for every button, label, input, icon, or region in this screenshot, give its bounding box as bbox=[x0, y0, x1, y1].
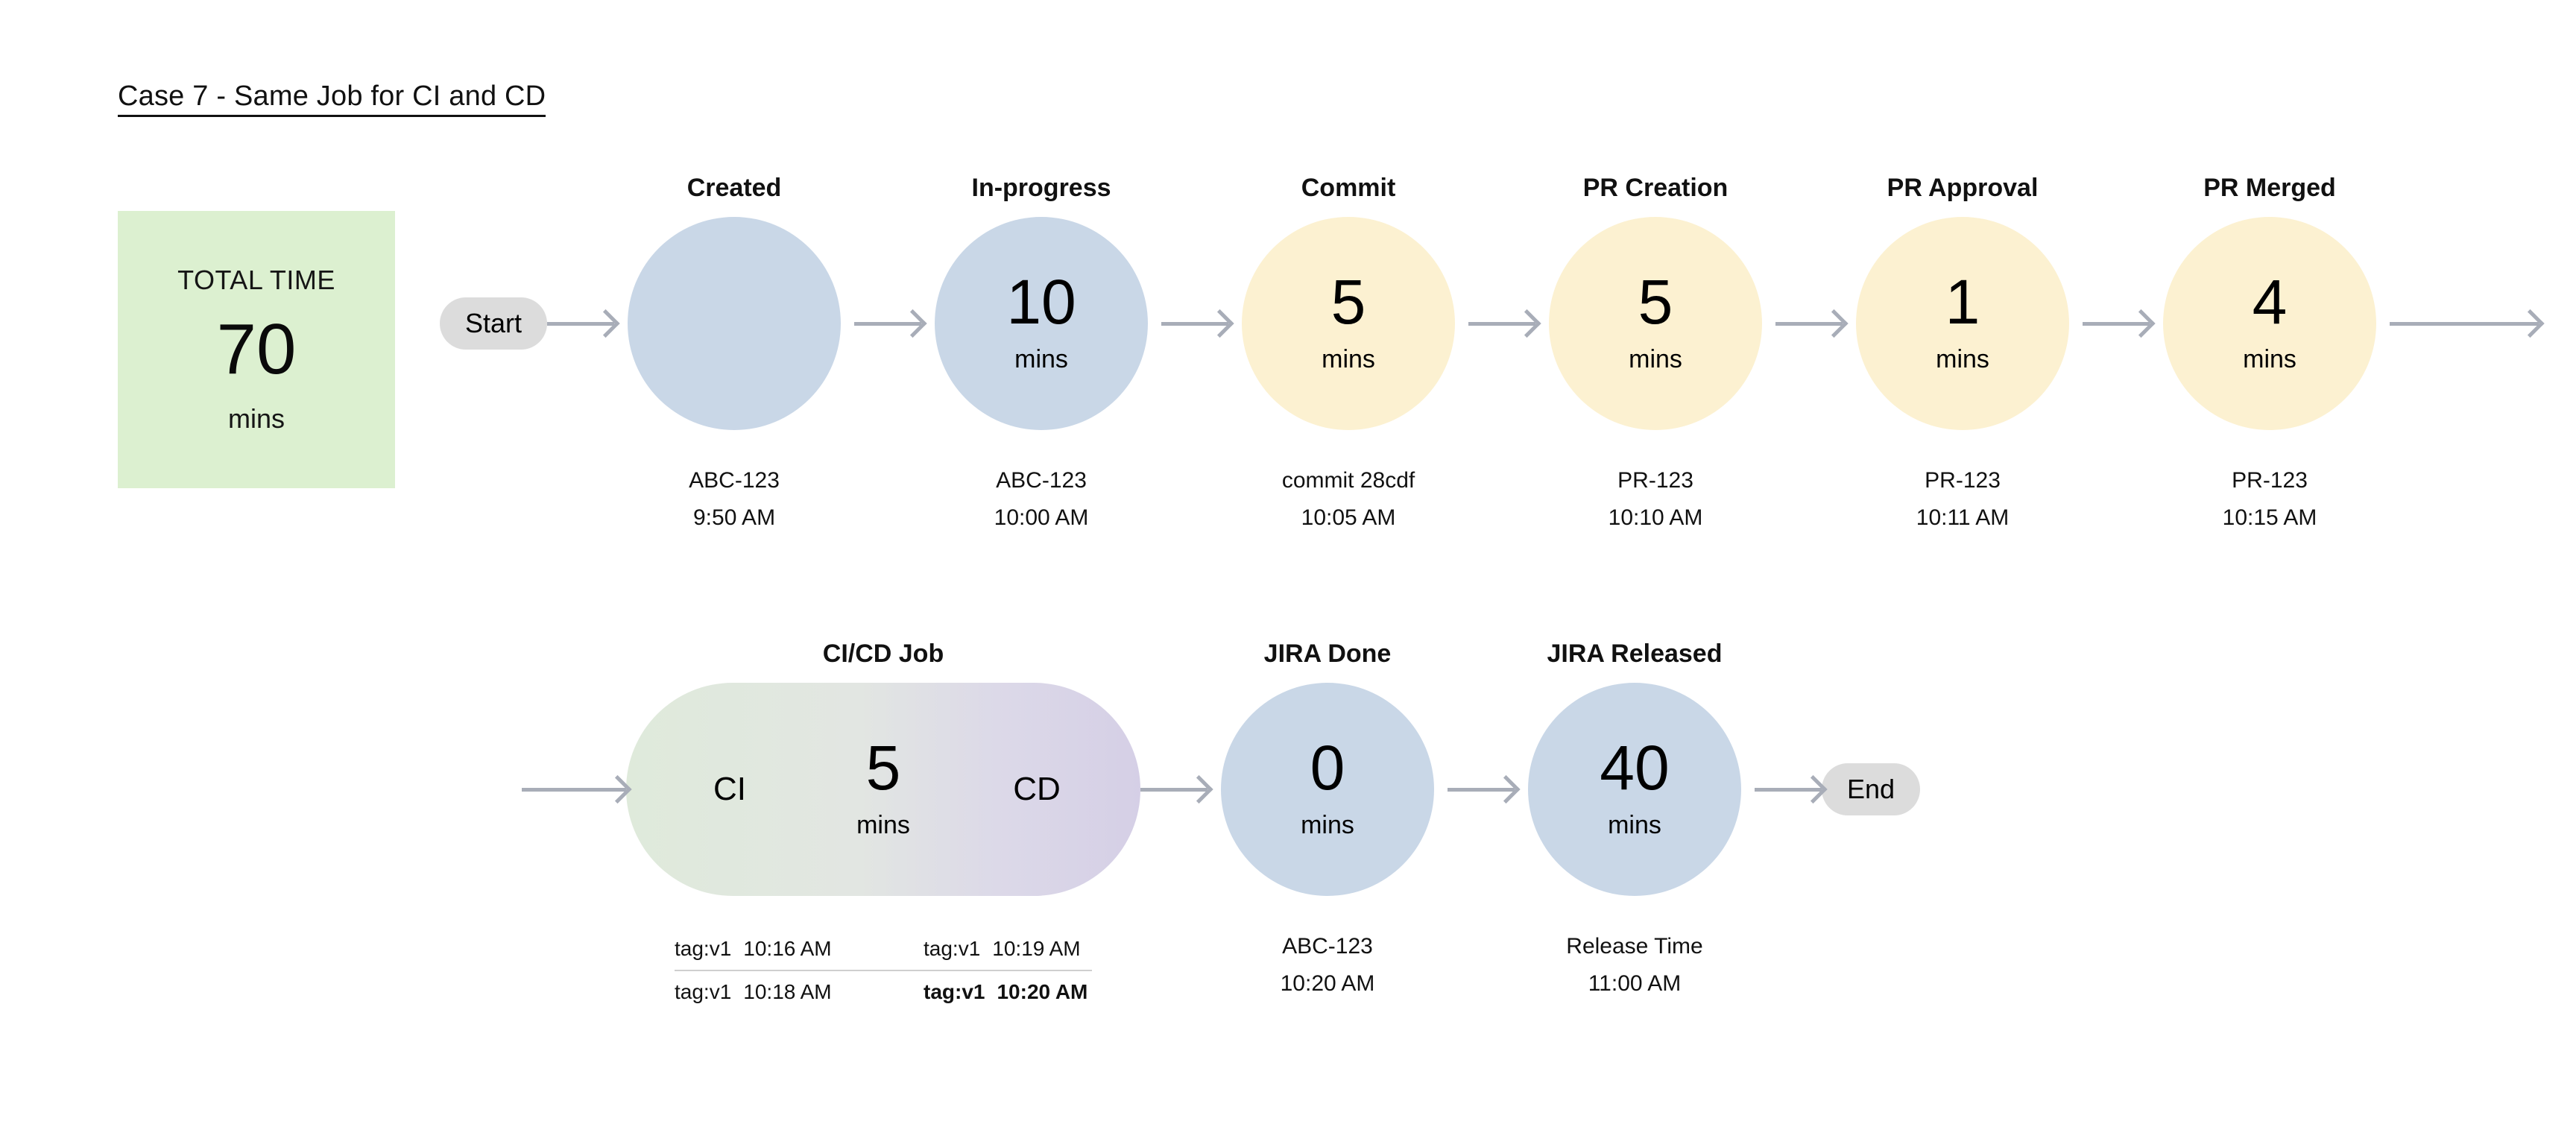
node-caption: PR-123 10:11 AM bbox=[1916, 468, 2010, 531]
flow-row-1: Start Created ABC-123 9:50 AM In-progres… bbox=[440, 171, 2539, 531]
caption-ref: commit 28cdf bbox=[1282, 468, 1415, 493]
connector-row2-continued bbox=[522, 670, 626, 909]
total-time-value: 70 bbox=[217, 312, 297, 388]
caption-ref: Release Time bbox=[1566, 934, 1702, 959]
node-caption: ABC-123 9:50 AM bbox=[689, 468, 780, 531]
duration-circle[interactable]: 1 mins bbox=[1856, 217, 2069, 430]
caption-ref: ABC-123 bbox=[1282, 934, 1373, 959]
tag-time: 10:19 AM bbox=[992, 937, 1080, 960]
duration-unit: mins bbox=[1014, 345, 1068, 374]
node-title: In-progress bbox=[972, 171, 1111, 204]
duration-value: 5 bbox=[866, 739, 901, 798]
start-pill-label[interactable]: Start bbox=[440, 297, 547, 350]
duration-circle[interactable]: 10 mins bbox=[935, 217, 1148, 430]
duration-unit: mins bbox=[1301, 811, 1354, 840]
caption-ref: PR-123 bbox=[2232, 468, 2308, 493]
page-title: Case 7 - Same Job for CI and CD bbox=[118, 82, 546, 117]
duration-circle[interactable]: 5 mins bbox=[1242, 217, 1455, 430]
arrow-icon bbox=[522, 788, 626, 792]
tag-cell: tag:v110:16 AM bbox=[675, 928, 883, 970]
arrow-icon bbox=[1775, 322, 1843, 326]
node-shape: 10 mins bbox=[921, 204, 1161, 443]
node-caption: commit 28cdf 10:05 AM bbox=[1282, 468, 1415, 531]
arrow-icon bbox=[1755, 788, 1822, 792]
node-title: JIRA Done bbox=[1264, 637, 1392, 670]
tag-time: 10:18 AM bbox=[743, 980, 831, 1003]
node-title: Created bbox=[687, 171, 782, 204]
node-caption: ABC-123 10:20 AM bbox=[1281, 934, 1375, 997]
connector-cicd-to-jira-done bbox=[1140, 670, 1207, 909]
arrow-icon bbox=[2083, 322, 2150, 326]
duration-circle[interactable]: 4 mins bbox=[2163, 217, 2376, 430]
caption-time: 9:50 AM bbox=[693, 505, 775, 531]
caption-time: 10:20 AM bbox=[1281, 971, 1375, 997]
duration-unit: mins bbox=[856, 811, 910, 840]
arrow-icon bbox=[854, 322, 921, 326]
connector-row1-continues bbox=[2390, 204, 2539, 443]
node-created[interactable]: Created ABC-123 9:50 AM bbox=[614, 171, 854, 531]
node-jira-done[interactable]: JIRA Done 0 mins ABC-123 10:20 AM bbox=[1207, 637, 1448, 997]
cicd-duration: 5 mins bbox=[786, 739, 981, 841]
ci-label: CI bbox=[674, 771, 786, 808]
node-title: JIRA Released bbox=[1547, 637, 1723, 670]
node-title: PR Merged bbox=[2203, 171, 2336, 204]
caption-time: 10:05 AM bbox=[1301, 505, 1396, 531]
start-node[interactable]: Start bbox=[440, 171, 547, 443]
caption-ref: ABC-123 bbox=[689, 468, 780, 493]
duration-unit: mins bbox=[1608, 811, 1661, 840]
node-jira-released[interactable]: JIRA Released 40 mins Release Time 11:00… bbox=[1515, 637, 1755, 997]
node-title: CI/CD Job bbox=[823, 637, 944, 670]
caption-ref: PR-123 bbox=[1925, 468, 2001, 493]
total-time-unit: mins bbox=[228, 403, 285, 435]
node-caption: Release Time 11:00 AM bbox=[1566, 934, 1702, 997]
cd-label: CD bbox=[981, 771, 1093, 808]
node-pr-creation[interactable]: PR Creation 5 mins PR-123 10:10 AM bbox=[1535, 171, 1775, 531]
connector-pr-approval-to-pr-merged bbox=[2083, 204, 2150, 443]
duration-unit: mins bbox=[1322, 345, 1375, 374]
duration-value: 10 bbox=[1006, 273, 1076, 332]
node-shape: 5 mins bbox=[1228, 204, 1468, 443]
caption-time: 10:11 AM bbox=[1916, 505, 2010, 531]
total-time-label: TOTAL TIME bbox=[177, 265, 335, 296]
node-shape: 40 mins bbox=[1515, 670, 1755, 909]
end-pill-label[interactable]: End bbox=[1822, 763, 1920, 815]
connector-pr-creation-to-pr-approval bbox=[1775, 204, 1843, 443]
connector-jira-done-to-jira-released bbox=[1448, 670, 1515, 909]
node-pr-approval[interactable]: PR Approval 1 mins PR-123 10:11 AM bbox=[1843, 171, 2083, 531]
total-time-card: TOTAL TIME 70 mins bbox=[118, 211, 395, 488]
caption-time: 10:00 AM bbox=[994, 505, 1089, 531]
node-cicd-job[interactable]: CI/CD Job CI 5 mins CD tag:v110:16 AM ta… bbox=[626, 637, 1140, 1013]
node-caption: ABC-123 10:00 AM bbox=[994, 468, 1089, 531]
tag-cell: tag:v110:20 AM bbox=[883, 971, 1092, 1013]
tag-cell: tag:v110:19 AM bbox=[883, 928, 1092, 970]
tag-cell: tag:v110:18 AM bbox=[675, 971, 883, 1013]
arrow-icon bbox=[1161, 322, 1228, 326]
duration-value: 40 bbox=[1600, 739, 1669, 798]
caption-time: 11:00 AM bbox=[1588, 971, 1682, 997]
duration-unit: mins bbox=[1936, 345, 1989, 374]
cicd-tag-grid: tag:v110:16 AM tag:v110:19 AM tag:v110:1… bbox=[675, 928, 1092, 1013]
node-shape: CI 5 mins CD bbox=[626, 670, 1140, 909]
duration-circle[interactable]: 40 mins bbox=[1528, 683, 1741, 896]
tag-label: tag:v1 bbox=[675, 980, 731, 1003]
caption-ref: ABC-123 bbox=[996, 468, 1087, 493]
arrow-icon bbox=[1448, 788, 1515, 792]
arrow-icon bbox=[1468, 322, 1535, 326]
node-caption: PR-123 10:10 AM bbox=[1609, 468, 1703, 531]
duration-value: 5 bbox=[1331, 273, 1366, 332]
node-commit[interactable]: Commit 5 mins commit 28cdf 10:05 AM bbox=[1228, 171, 1468, 531]
node-shape: 4 mins bbox=[2150, 204, 2390, 443]
connector-commit-to-pr-creation bbox=[1468, 204, 1535, 443]
duration-value: 0 bbox=[1310, 739, 1345, 798]
tag-label: tag:v1 bbox=[924, 980, 985, 1003]
node-shape bbox=[614, 204, 854, 443]
node-caption: PR-123 10:15 AM bbox=[2223, 468, 2317, 531]
tag-time: 10:20 AM bbox=[997, 980, 1087, 1003]
duration-value: 4 bbox=[2253, 273, 2288, 332]
node-title: PR Approval bbox=[1887, 171, 2039, 204]
duration-value: 5 bbox=[1638, 273, 1673, 332]
caption-time: 10:15 AM bbox=[2223, 505, 2317, 531]
node-shape: 0 mins bbox=[1207, 670, 1448, 909]
flow-row-2: CI/CD Job CI 5 mins CD tag:v110:16 AM ta… bbox=[522, 637, 1920, 1013]
connector-start-to-created bbox=[547, 204, 614, 443]
tag-label: tag:v1 bbox=[675, 937, 731, 960]
connector-created-to-inprogress bbox=[854, 204, 921, 443]
caption-ref: PR-123 bbox=[1617, 468, 1693, 493]
tag-time: 10:16 AM bbox=[743, 937, 831, 960]
node-in-progress[interactable]: In-progress 10 mins ABC-123 10:00 AM bbox=[921, 171, 1161, 531]
arrow-icon bbox=[2390, 322, 2539, 326]
node-title: Commit bbox=[1301, 171, 1396, 204]
arrow-icon bbox=[1140, 788, 1207, 792]
node-shape: 1 mins bbox=[1843, 204, 2083, 443]
connector-inprogress-to-commit bbox=[1161, 204, 1228, 443]
start-shape: Start bbox=[440, 204, 547, 443]
cicd-gradient-pill[interactable]: CI 5 mins CD bbox=[626, 683, 1140, 896]
tag-label: tag:v1 bbox=[924, 937, 980, 960]
node-shape: 5 mins bbox=[1535, 204, 1775, 443]
arrow-icon bbox=[547, 322, 614, 326]
node-title: PR Creation bbox=[1583, 171, 1729, 204]
duration-circle[interactable]: 5 mins bbox=[1549, 217, 1762, 430]
duration-value: 1 bbox=[1945, 273, 1980, 332]
node-pr-merged[interactable]: PR Merged 4 mins PR-123 10:15 AM bbox=[2150, 171, 2390, 531]
duration-unit: mins bbox=[1629, 345, 1682, 374]
duration-unit: mins bbox=[2243, 345, 2296, 374]
duration-circle[interactable]: 0 mins bbox=[1221, 683, 1434, 896]
end-node[interactable]: End bbox=[1822, 637, 1920, 909]
end-shape: End bbox=[1822, 670, 1920, 909]
duration-circle[interactable] bbox=[628, 217, 841, 430]
caption-time: 10:10 AM bbox=[1609, 505, 1703, 531]
connector-jira-released-to-end bbox=[1755, 670, 1822, 909]
